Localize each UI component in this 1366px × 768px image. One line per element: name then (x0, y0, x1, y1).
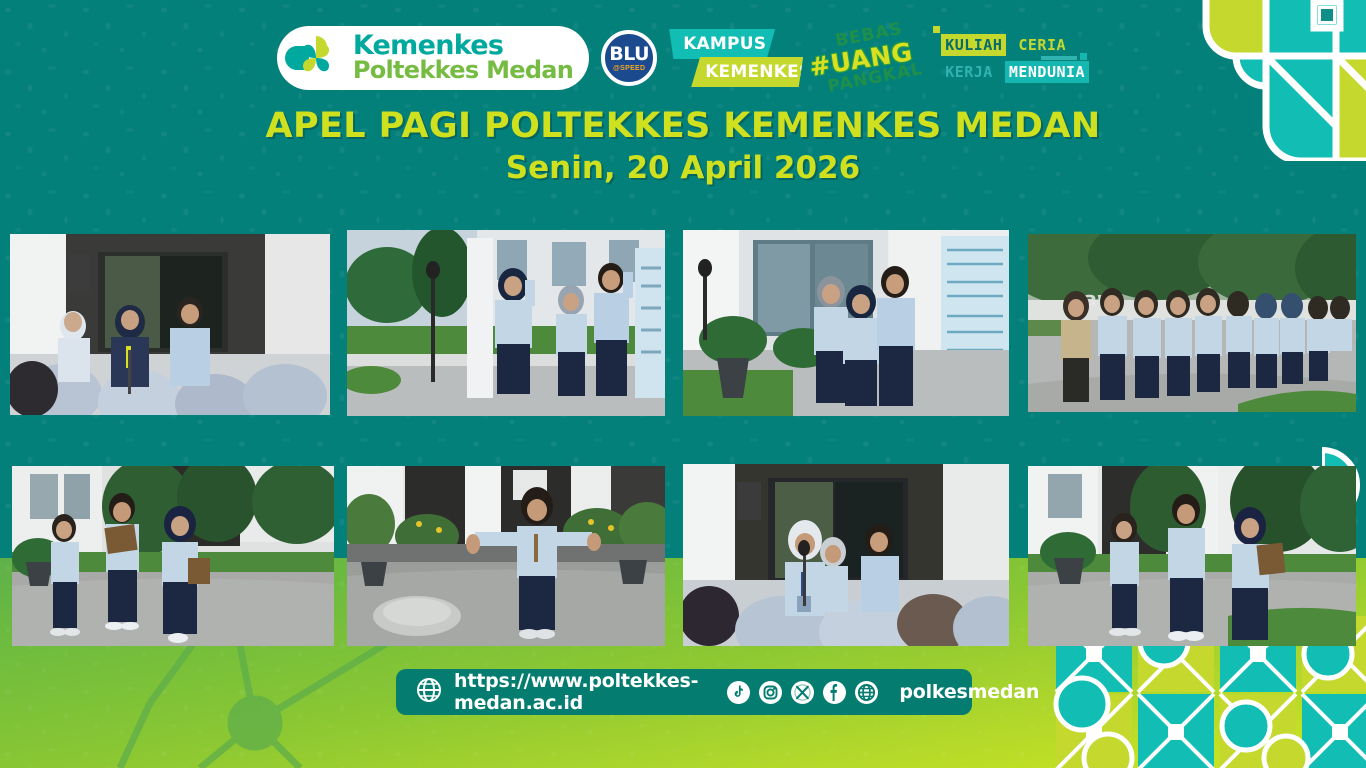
social-handle[interactable]: polkesmedan (899, 681, 1039, 703)
blu-badge-sub: @SPEED (613, 65, 645, 72)
website-globe-icon[interactable] (854, 680, 879, 705)
kampus-badge-bottom: KEMENKES (691, 57, 803, 87)
kemenkes-logo-line2: Poltekkes Medan (353, 59, 573, 83)
gallery-photo-8 (1028, 466, 1356, 646)
kampus-kemenkes-badge: KAMPUS KEMENKES (669, 25, 797, 91)
instagram-icon[interactable] (758, 680, 783, 705)
kuliah-square-accent-1 (933, 26, 940, 33)
blu-badge-main: BLU (609, 45, 649, 64)
gallery-photo-1 (10, 234, 330, 415)
globe-icon (416, 677, 442, 708)
gallery-photo-5 (12, 466, 334, 646)
poster-subtitle: Senin, 20 April 2026 (0, 150, 1366, 186)
x-twitter-icon[interactable] (790, 680, 815, 705)
kemenkes-logo: Kemenkes Poltekkes Medan (277, 26, 589, 90)
poster-canvas: Kemenkes Poltekkes Medan BLU @SPEED KAMP… (0, 0, 1366, 768)
gallery-photo-2 (347, 230, 665, 416)
kuliah-ceria-badge: KULIAH CERIA KERJA MENDUNIA (933, 26, 1089, 90)
mendunia-word: MENDUNIA (1005, 61, 1089, 83)
facebook-icon[interactable] (822, 680, 847, 705)
gallery-photo-4: aaw (1028, 234, 1356, 412)
header-logo-row: Kemenkes Poltekkes Medan BLU @SPEED KAMP… (0, 22, 1366, 94)
website-url[interactable]: https://www.poltekkes-medan.ac.id (454, 670, 698, 714)
kuliah-square-accent-2 (1080, 53, 1087, 60)
tiktok-icon[interactable] (726, 680, 751, 705)
kemenkes-flower-icon (283, 30, 349, 86)
kuliah-word: KULIAH (941, 34, 1006, 56)
kampus-badge-top: KAMPUS (669, 29, 775, 59)
blu-badge: BLU @SPEED (601, 30, 657, 86)
footer-contact-bar: https://www.poltekkes-medan.ac.id (396, 669, 972, 715)
ceria-word: CERIA (1014, 34, 1070, 56)
bebas-uang-pangkal-badge: BEBAS #UANG PANGKAL (809, 23, 921, 93)
poster-title: APEL PAGI POLTEKKES KEMENKES MEDAN (0, 106, 1366, 146)
social-icon-row (726, 680, 879, 705)
gallery-photo-7 (683, 464, 1009, 646)
gallery-photo-6 (347, 466, 665, 646)
kuliah-bar-accent (1041, 56, 1077, 60)
gallery-photo-3 (683, 230, 1009, 416)
kerja-word: KERJA (941, 61, 997, 83)
